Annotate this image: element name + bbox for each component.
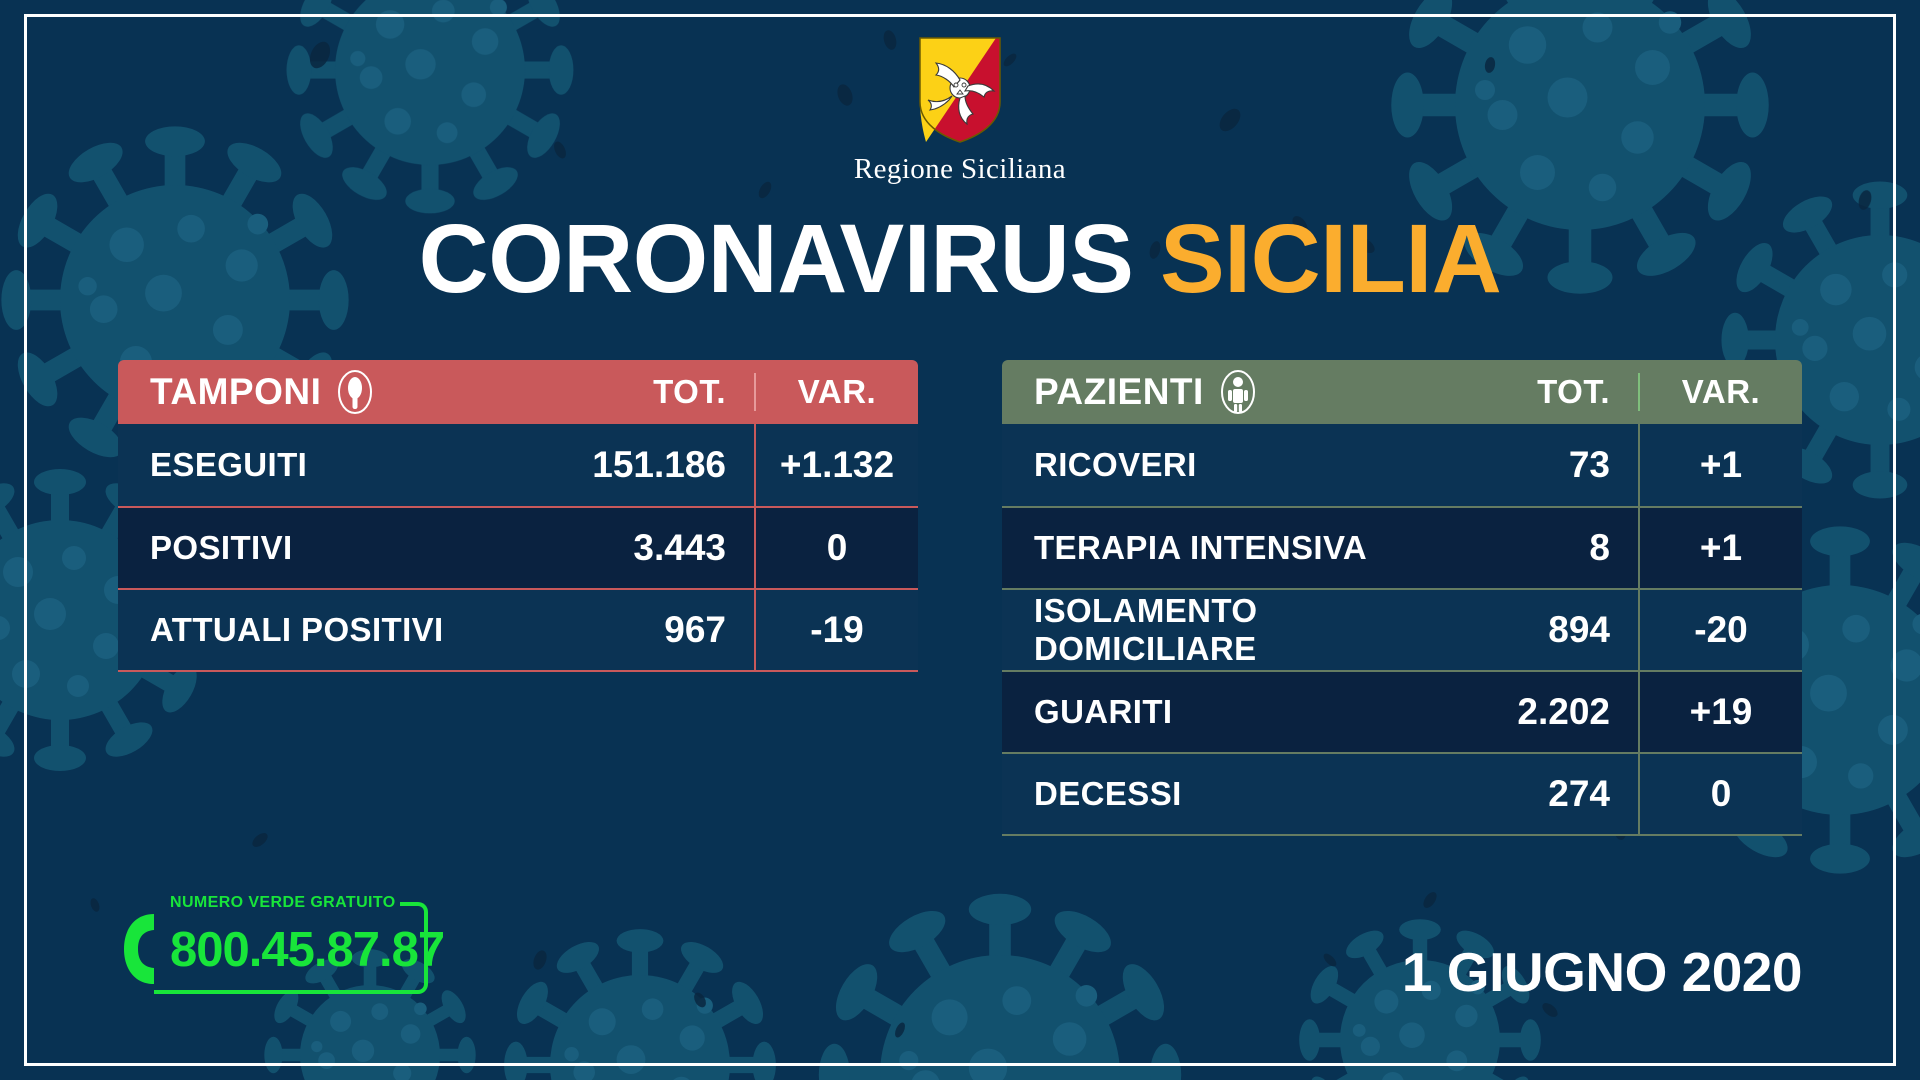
row-var: +1 [1638,507,1802,589]
row-label: RICOVERI [1002,446,1440,484]
row-var: -20 [1638,589,1802,671]
row-total: 967 [556,609,754,651]
tamponi-header-name-cell: TAMPONI [118,369,556,415]
phone-handset-icon [120,910,164,988]
region-name: Regione Siciliana [854,153,1066,186]
page-title: CORONAVIRUS SICILIA [0,210,1920,307]
row-var: -19 [754,589,918,671]
title-sicilia: SICILIA [1160,204,1501,313]
table-row: GUARITI 2.202 +19 [1002,670,1802,752]
tamponi-table-header: TAMPONI TOT. VAR. [118,360,918,424]
table-row: ISOLAMENTO DOMICILIARE 894 -20 [1002,588,1802,670]
row-label: ATTUALI POSITIVI [118,611,556,649]
row-total: 2.202 [1440,691,1638,733]
pazienti-col-total: TOT. [1440,373,1638,411]
pazienti-col-var: VAR. [1638,373,1802,411]
row-label: GUARITI [1002,693,1440,731]
table-row: ESEGUITI 151.186 +1.132 [118,424,918,506]
row-var: 0 [754,507,918,589]
table-row: ATTUALI POSITIVI 967 -19 [118,588,918,670]
pazienti-header-name-cell: PAZIENTI [1002,369,1440,415]
row-total: 3.443 [556,527,754,569]
row-var: +1.132 [754,424,918,506]
tamponi-table: TAMPONI TOT. VAR. ESEGUITI 151.186 +1.13… [118,360,918,836]
sicilian-trinacria-crest-icon [916,36,1004,144]
table-row: RICOVERI 73 +1 [1002,424,1802,506]
table-row: TERAPIA INTENSIVA 8 +1 [1002,506,1802,588]
tamponi-col-var: VAR. [754,373,918,411]
row-label: ISOLAMENTO DOMICILIARE [1002,592,1440,668]
statistics-tables: TAMPONI TOT. VAR. ESEGUITI 151.186 +1.13… [0,360,1920,836]
person-icon [1218,369,1258,415]
pazienti-header-label: PAZIENTI [1034,371,1204,413]
row-var: 0 [1638,753,1802,835]
toll-free-number[interactable]: 800.45.87.87 [170,922,444,978]
toll-free-number-box[interactable]: NUMERO VERDE GRATUITO 800.45.87.87 [118,900,428,996]
row-total: 151.186 [556,444,754,486]
table-row: POSITIVI 3.443 0 [118,506,918,588]
pazienti-table: PAZIENTI TOT. VAR. RICOVERI 73 [1002,360,1802,836]
swab-icon [335,369,375,415]
row-total: 73 [1440,444,1638,486]
table-row: DECESSI 274 0 [1002,752,1802,834]
tamponi-col-total: TOT. [556,373,754,411]
title-coronavirus: CORONAVIRUS [419,204,1134,313]
header: Regione Siciliana CORONAVIRUS SICILIA [0,0,1920,307]
row-var: +19 [1638,671,1802,753]
row-total: 894 [1440,609,1638,651]
row-label: POSITIVI [118,529,556,567]
pazienti-table-header: PAZIENTI TOT. VAR. [1002,360,1802,424]
toll-free-label: NUMERO VERDE GRATUITO [166,894,400,912]
tamponi-header-label: TAMPONI [150,371,321,413]
row-label: ESEGUITI [118,446,556,484]
row-label: TERAPIA INTENSIVA [1002,529,1440,567]
row-total: 274 [1440,773,1638,815]
row-label: DECESSI [1002,775,1440,813]
report-date: 1 GIUGNO 2020 [1402,940,1802,1004]
row-total: 8 [1440,527,1638,569]
row-var: +1 [1638,424,1802,506]
